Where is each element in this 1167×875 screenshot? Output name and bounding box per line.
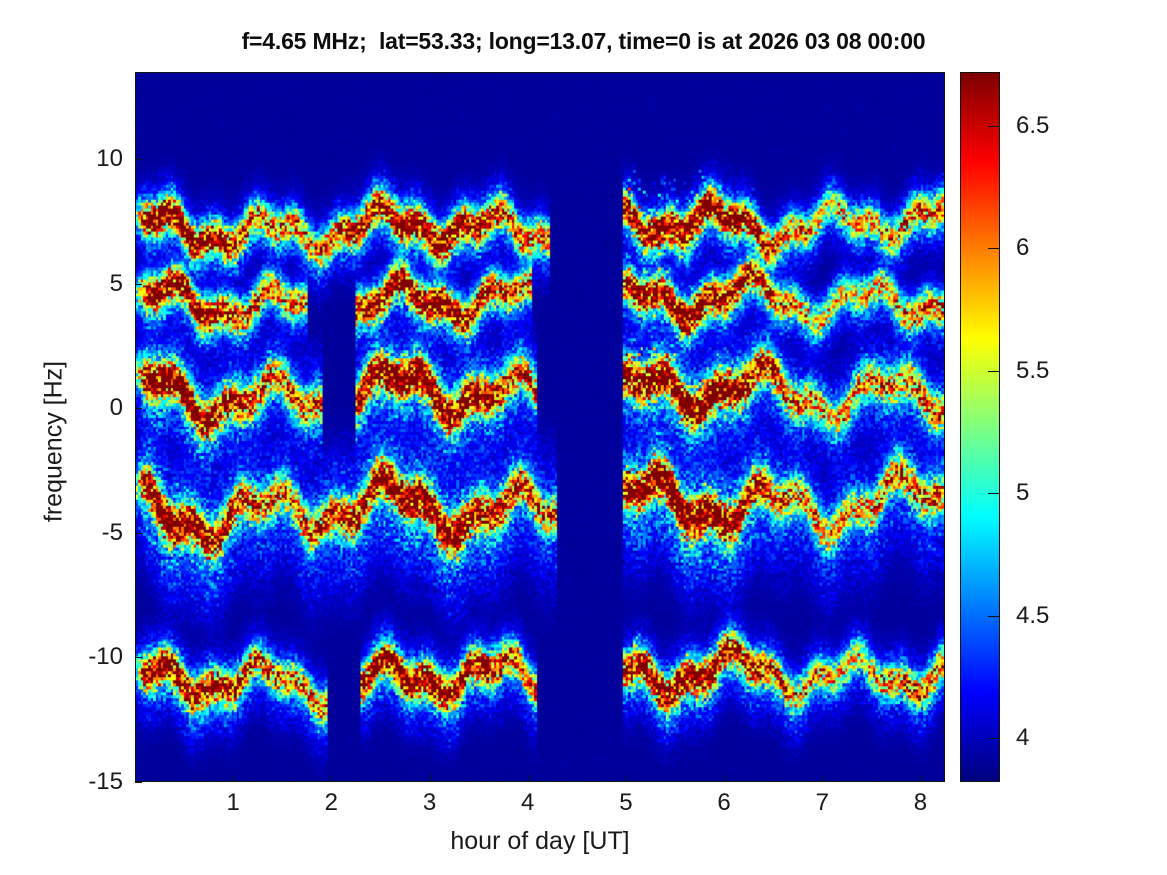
x-tick-mark (331, 775, 332, 782)
spectrogram-image (136, 73, 944, 781)
x-tick-label: 5 (596, 789, 656, 817)
x-tick-label: 2 (301, 789, 361, 817)
colorbar-tick-label: 5.5 (1016, 357, 1049, 385)
y-tick-label: -15 (3, 768, 123, 796)
x-tick-label: 1 (203, 789, 263, 817)
x-tick-mark (430, 775, 431, 782)
y-tick-label: 10 (3, 145, 123, 173)
y-tick-mark (135, 657, 142, 658)
x-tick-mark (528, 775, 529, 782)
x-tick-label: 7 (792, 789, 852, 817)
x-tick-label: 3 (400, 789, 460, 817)
colorbar-tick-label: 5 (1016, 479, 1029, 507)
colorbar (960, 72, 1000, 782)
colorbar-gradient (961, 73, 999, 781)
colorbar-tick-mark (988, 738, 999, 739)
y-tick-mark (135, 159, 142, 160)
colorbar-tick-mark (988, 493, 999, 494)
x-tick-mark (724, 775, 725, 782)
x-tick-label: 8 (890, 789, 950, 817)
colorbar-tick-label: 4.5 (1016, 602, 1049, 630)
colorbar-tick-mark (988, 248, 999, 249)
x-tick-mark (626, 775, 627, 782)
colorbar-tick-mark (988, 616, 999, 617)
colorbar-tick-mark (988, 371, 999, 372)
y-tick-mark (135, 408, 142, 409)
x-tick-label: 6 (694, 789, 754, 817)
colorbar-tick-label: 4 (1016, 724, 1029, 752)
page-title: f=4.65 MHz; lat=53.33; long=13.07, time=… (0, 28, 1167, 55)
x-tick-mark (920, 775, 921, 782)
x-tick-mark (233, 775, 234, 782)
colorbar-tick-label: 6.5 (1016, 112, 1049, 140)
x-axis-label: hour of day [UT] (135, 827, 945, 856)
colorbar-tick-label: 6 (1016, 234, 1029, 262)
x-tick-mark (822, 775, 823, 782)
y-axis-label: frequency [Hz] (40, 292, 69, 592)
y-tick-mark (135, 782, 142, 783)
y-tick-mark (135, 284, 142, 285)
y-tick-mark (135, 533, 142, 534)
doppler-spectrogram-figure: f=4.65 MHz; lat=53.33; long=13.07, time=… (0, 0, 1167, 875)
x-tick-label: 4 (498, 789, 558, 817)
colorbar-tick-mark (988, 126, 999, 127)
y-tick-label: -10 (3, 643, 123, 671)
plot-axes (135, 72, 945, 782)
